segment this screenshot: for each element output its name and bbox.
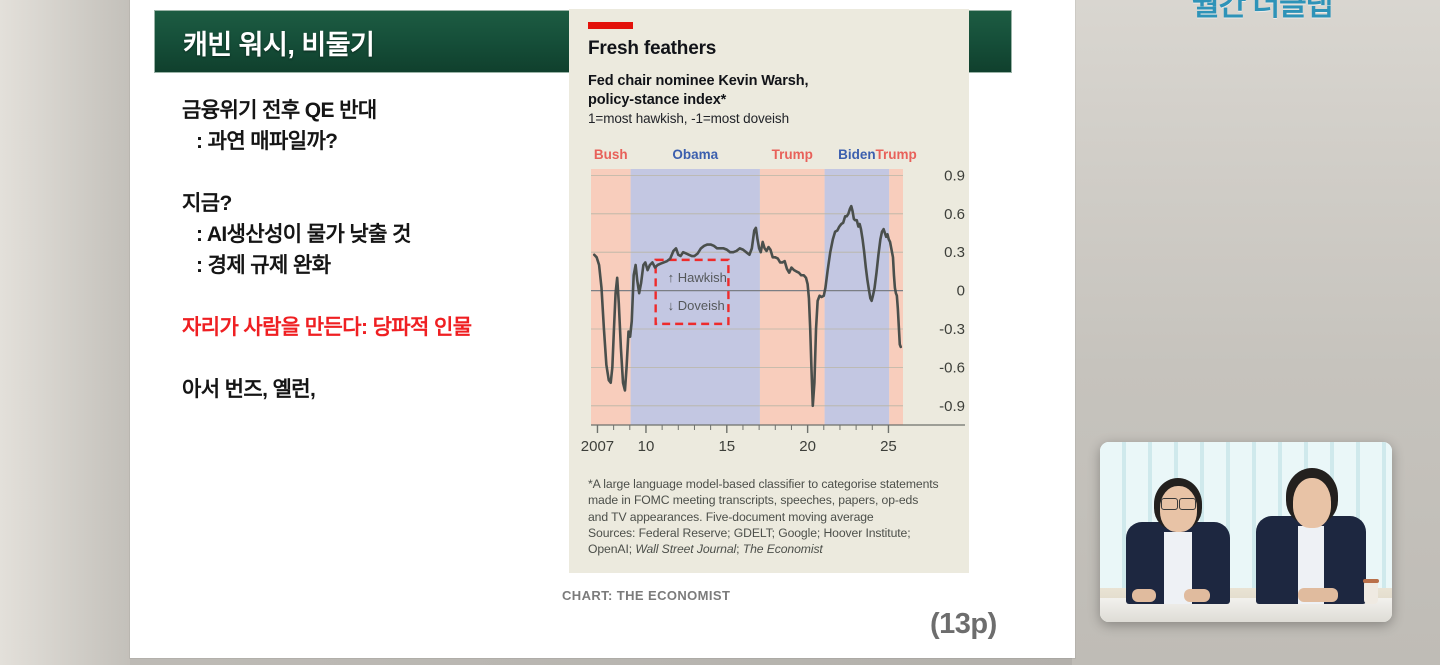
body-line: : 과연 매파일까? (182, 126, 612, 157)
footnote-line: made in FOMC meeting transcripts, speech… (588, 492, 958, 508)
channel-watermark-text: 월간 더클랩 (1192, 0, 1370, 22)
y-axis-tick-label: 0.6 (944, 206, 965, 223)
chart-subtitle-line: Fed chair nominee Kevin Warsh, (588, 72, 808, 91)
economist-chart-card: Fresh feathers Fed chair nominee Kevin W… (569, 9, 969, 573)
presenter-right-face (1293, 478, 1331, 528)
era-label-bush-0: Bush (594, 147, 628, 162)
era-band-biden-3 (825, 169, 890, 425)
body-line: : AI생산성이 물가 낮출 것 (182, 219, 612, 250)
era-label-biden-3: Biden (838, 147, 876, 162)
chart-scale-note: 1=most hawkish, -1=most doveish (588, 111, 789, 126)
x-axis-tick-label: 20 (799, 438, 816, 455)
page-number: (13p) (930, 608, 997, 641)
chart-subtitle-line: policy-stance index* (588, 91, 808, 110)
x-axis-tick-label: 25 (880, 438, 897, 455)
footnote-wsj: Wall Street Journal (635, 542, 736, 556)
chart-credit: CHART: THE ECONOMIST (562, 588, 730, 603)
era-band-obama-1 (631, 169, 760, 425)
footnote-economist: The Economist (743, 542, 823, 556)
y-axis-tick-label: 0.9 (944, 167, 965, 184)
y-axis-tick-label: -0.3 (939, 321, 965, 338)
background-panel-left (0, 0, 130, 665)
chart-footnote: *A large language model-based classifier… (588, 476, 958, 557)
footnote-line: and TV appearances. Five-document moving… (588, 509, 958, 525)
chart-title: Fresh feathers (588, 38, 716, 60)
era-label-obama-1: Obama (672, 147, 718, 162)
slide-title: 캐빈 워시, 비둘기 (183, 23, 374, 62)
body-spacer (182, 157, 612, 188)
body-spacer (182, 343, 612, 374)
body-line: : 경제 규제 완화 (182, 250, 612, 281)
hawkish-annotation-label: ↑ Hawkish (668, 270, 727, 285)
footnote-line: Sources: Federal Reserve; GDELT; Google;… (588, 525, 958, 541)
y-axis-tick-label: 0.3 (944, 244, 965, 261)
channel-watermark: 월간 더클랩 (1192, 0, 1370, 24)
body-line: 자리가 사람을 만든다: 당파적 인물 (182, 312, 612, 343)
presentation-slide: 캐빈 워시, 비둘기 금융위기 전후 QE 반대: 과연 매파일까?지금?: A… (130, 0, 1075, 658)
presenter-right-hands (1298, 588, 1338, 602)
policy-stance-line-chart: 0.90.60.30-0.3-0.6-0.9200710152025BushOb… (581, 137, 969, 457)
footnote-openai: OpenAI; (588, 542, 635, 556)
x-axis-tick-label: 10 (638, 438, 655, 455)
economist-red-rule (588, 22, 633, 29)
body-line: 아서 번즈, 옐런, (182, 374, 612, 405)
presenter-left-hand-a (1132, 589, 1156, 602)
x-axis-tick-label: 15 (718, 438, 735, 455)
doveish-annotation-label: ↓ Doveish (668, 298, 725, 313)
y-axis-tick-label: -0.6 (939, 359, 965, 376)
presenter-left-hand-b (1184, 589, 1210, 602)
screen: 월간 더클랩 캐빈 워시, 비둘기 금융위기 전후 QE 반대: 과연 매파일까… (0, 0, 1440, 665)
body-line: 지금? (182, 188, 612, 219)
footnote-line: *A large language model-based classifier… (588, 476, 958, 492)
presenter-left-glasses (1161, 498, 1178, 510)
chart-subtitle: Fed chair nominee Kevin Warsh,policy-sta… (588, 72, 808, 110)
x-axis-tick-label: 2007 (581, 438, 614, 455)
body-spacer (182, 281, 612, 312)
presenter-left (1118, 464, 1238, 604)
presenter-right (1250, 454, 1376, 604)
footnote-separator: ; (736, 542, 743, 556)
y-axis-tick-label: 0 (957, 283, 965, 300)
presenter-video-overlay[interactable] (1100, 442, 1392, 622)
era-label-trump-4: Trump (875, 147, 916, 162)
chart-plot-area: 0.90.60.30-0.3-0.6-0.9200710152025BushOb… (581, 137, 969, 457)
slide-body-text: 금융위기 전후 QE 반대: 과연 매파일까?지금?: AI생산성이 물가 낮출… (182, 95, 612, 405)
coffee-cup-lid (1363, 579, 1379, 583)
presenter-left-glasses-right (1179, 498, 1196, 510)
footnote-sources-line: OpenAI; Wall Street Journal; The Economi… (588, 541, 958, 557)
era-label-trump-2: Trump (772, 147, 813, 162)
y-axis-tick-label: -0.9 (939, 398, 965, 415)
body-line: 금융위기 전후 QE 반대 (182, 95, 612, 126)
coffee-cup (1364, 582, 1378, 604)
slide-title-bar: 캐빈 워시, 비둘기 (154, 10, 591, 73)
